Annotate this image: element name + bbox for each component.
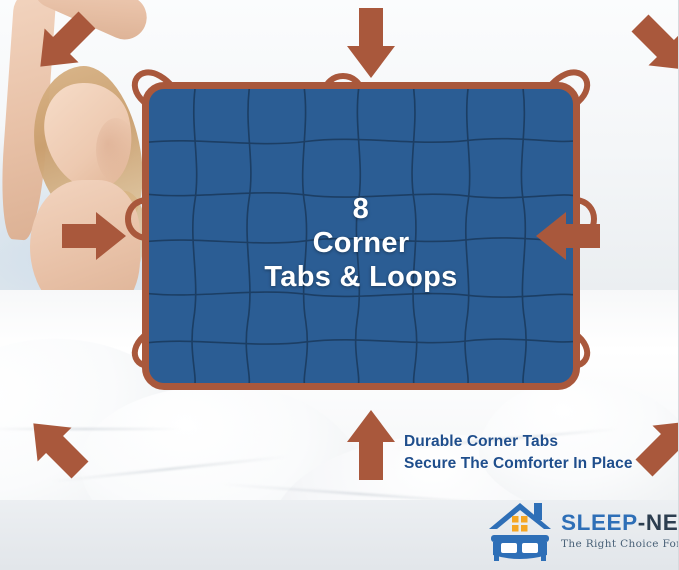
model-face-shading bbox=[96, 118, 136, 182]
logo-wordmark: SLEEP-NEST bbox=[561, 512, 679, 535]
comforter-illustration: 8 Corner Tabs & Loops bbox=[142, 82, 580, 390]
logo-word-nest: NEST bbox=[646, 510, 679, 535]
caption-line-1: Durable Corner Tabs bbox=[404, 431, 633, 453]
infographic-canvas: 8 Corner Tabs & Loops bbox=[0, 0, 679, 570]
caption-line-2: Secure The Comforter In Place bbox=[404, 453, 633, 475]
logo-tagline: The Right Choice For You bbox=[561, 538, 679, 550]
caption-block: Durable Corner Tabs Secure The Comforter… bbox=[404, 431, 633, 475]
duvet-crease bbox=[0, 428, 180, 430]
logo-word-dash: - bbox=[638, 510, 646, 535]
house-with-bed-icon bbox=[487, 499, 559, 563]
comforter-body: 8 Corner Tabs & Loops bbox=[142, 82, 580, 390]
quilt-stitch-grid bbox=[149, 89, 573, 383]
logo-word-sleep: SLEEP bbox=[561, 510, 638, 535]
brand-logo: SLEEP-NEST The Right Choice For You bbox=[487, 498, 673, 564]
logo-text-block: SLEEP-NEST The Right Choice For You bbox=[561, 512, 679, 550]
